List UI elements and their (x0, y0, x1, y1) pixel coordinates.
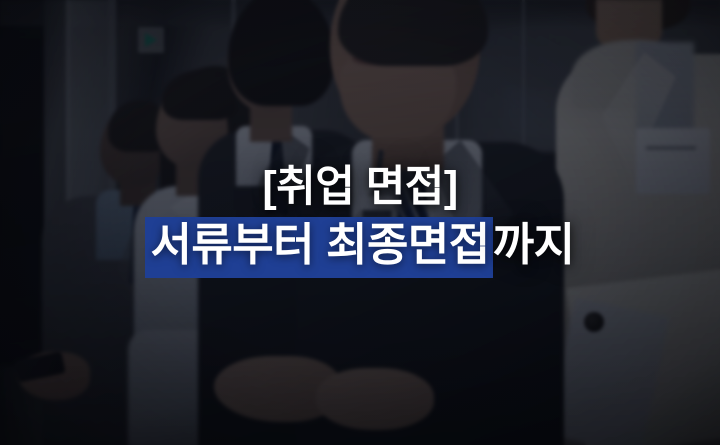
title-overlay: [취업 면접] 서류부터 최종면접까지 (0, 0, 720, 445)
title-line-2: 서류부터 최종면접까지 (145, 217, 574, 278)
title-line-1: [취업 면접] (262, 165, 457, 210)
title-highlighted-phrase: 서류부터 최종면접 (145, 217, 492, 278)
thumbnail-card: [취업 면접] 서류부터 최종면접까지 (0, 0, 720, 445)
title-plain-suffix: 까지 (493, 217, 575, 278)
